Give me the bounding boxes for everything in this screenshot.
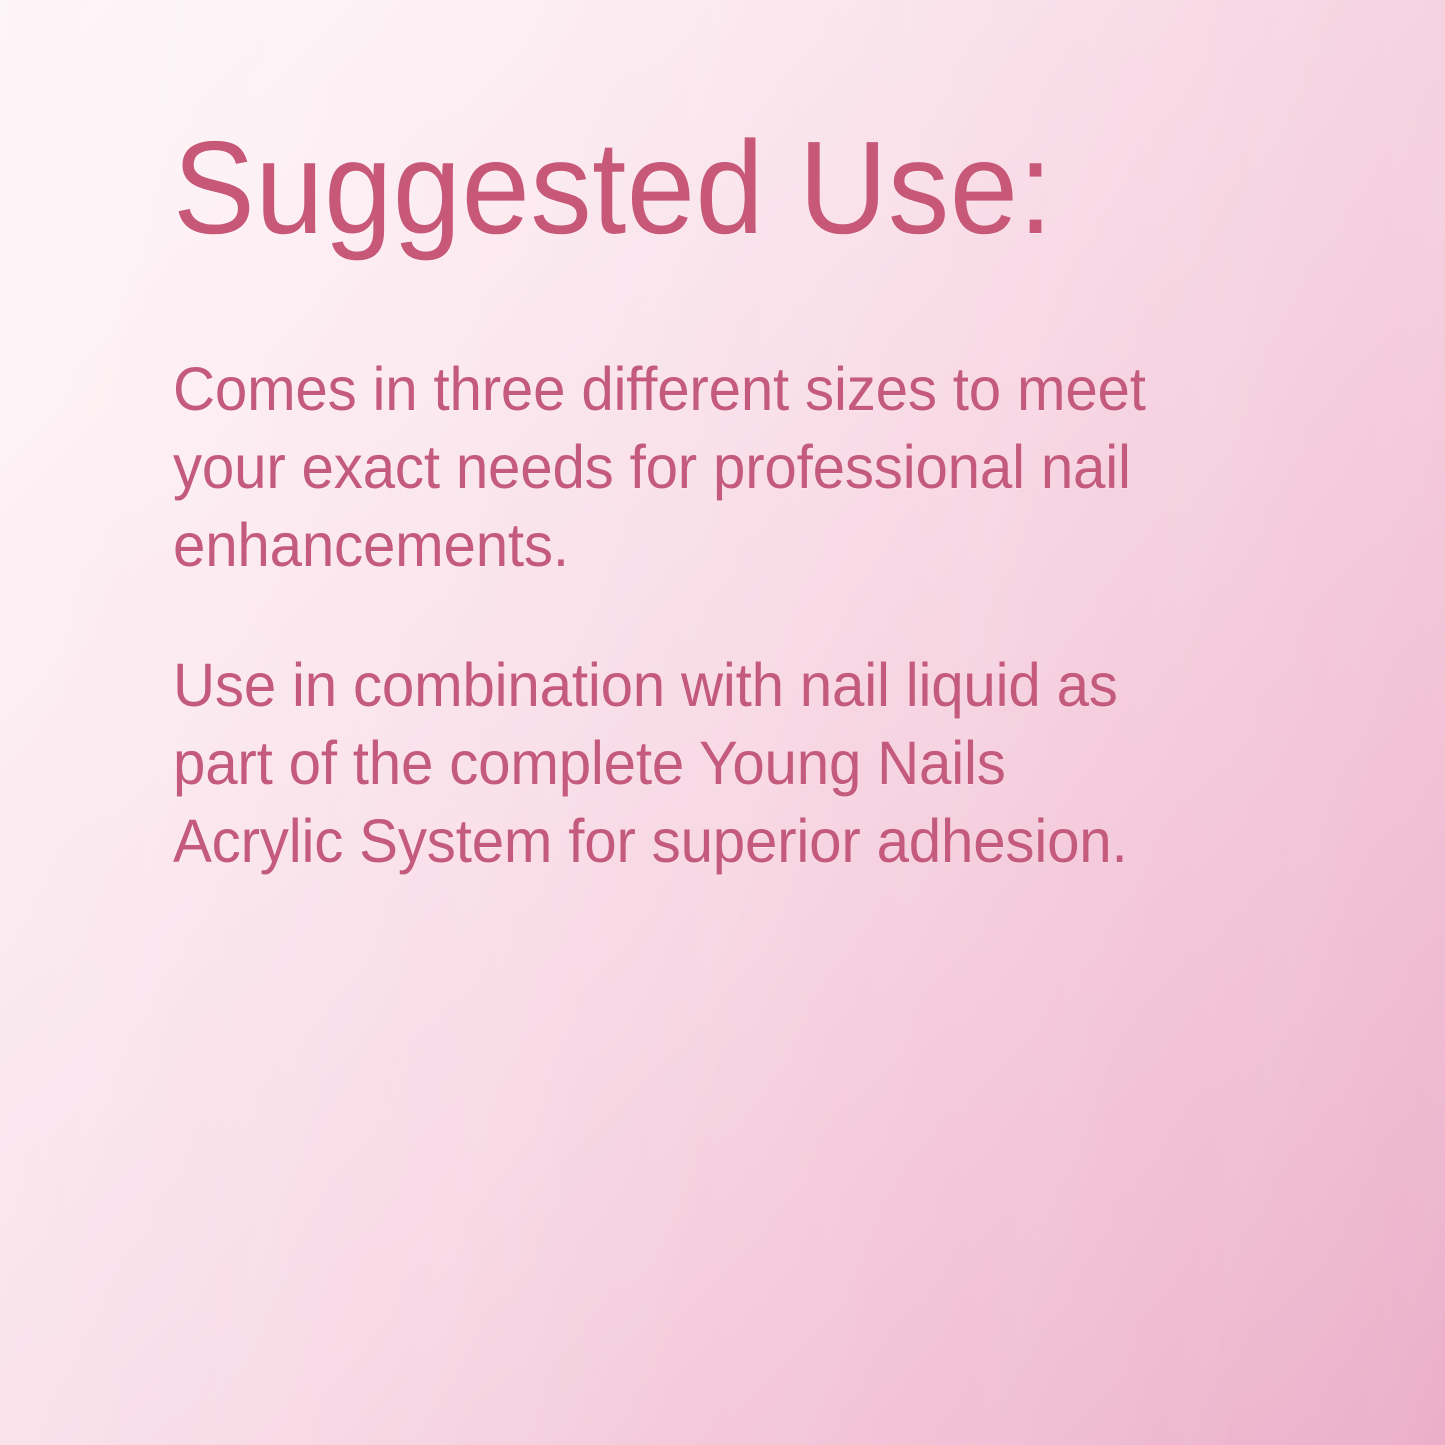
suggested-use-panel: Suggested Use: Comes in three different … <box>0 0 1445 1445</box>
description-paragraph-sizes: Comes in three different sizes to meet y… <box>173 350 1176 584</box>
page-title: Suggested Use: <box>173 118 1215 258</box>
body-paragraph-group: Comes in three different sizes to meet y… <box>173 350 1223 880</box>
description-paragraph-system: Use in combination with nail liquid as p… <box>173 646 1176 880</box>
text-content-block: Suggested Use: Comes in three different … <box>173 118 1293 880</box>
